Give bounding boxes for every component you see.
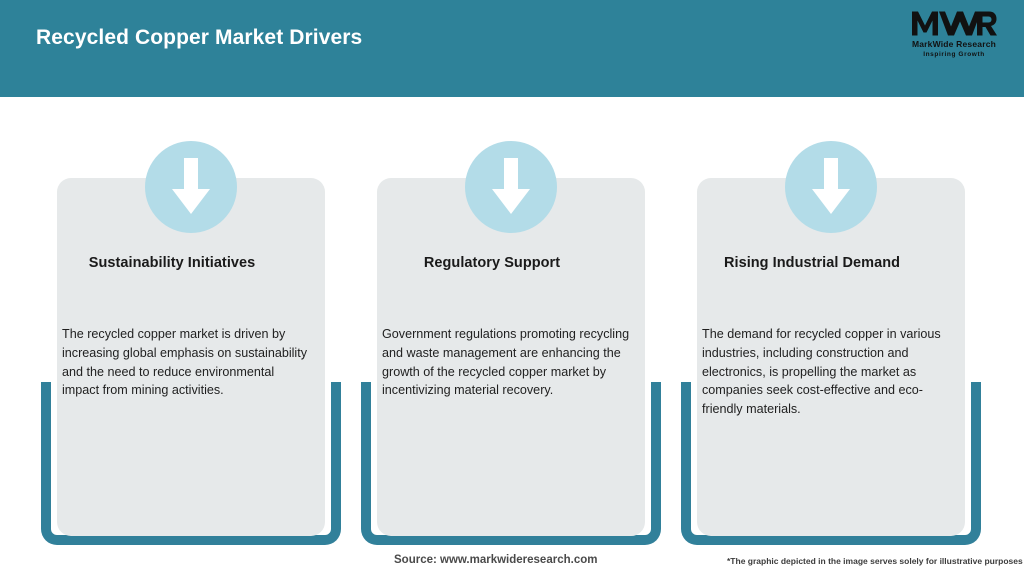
page-title: Recycled Copper Market Drivers xyxy=(36,26,362,50)
logo-company-name: MarkWide Research xyxy=(898,39,1010,50)
card-description: The demand for recycled copper in variou… xyxy=(702,325,950,419)
down-arrow-icon xyxy=(465,141,557,233)
driver-card[interactable]: Sustainability Initiatives The recycled … xyxy=(38,97,344,552)
logo-tagline: Inspiring Growth xyxy=(898,50,1010,59)
driver-cards-container: Sustainability Initiatives The recycled … xyxy=(0,97,1024,552)
mwr-logo-icon xyxy=(911,8,997,38)
driver-card[interactable]: Regulatory Support Government regulation… xyxy=(358,97,664,552)
card-title: Sustainability Initiatives xyxy=(52,255,292,271)
disclaimer-label: *The graphic depicted in the image serve… xyxy=(727,556,1023,566)
page-header: Recycled Copper Market Drivers MarkWide … xyxy=(0,0,1024,97)
down-arrow-icon xyxy=(785,141,877,233)
card-title: Regulatory Support xyxy=(372,255,612,271)
card-title: Rising Industrial Demand xyxy=(692,255,932,271)
driver-card[interactable]: Rising Industrial Demand The demand for … xyxy=(678,97,984,552)
down-arrow-icon xyxy=(145,141,237,233)
card-description: The recycled copper market is driven by … xyxy=(62,325,310,400)
page-footer: Source: www.markwideresearch.com *The gr… xyxy=(0,552,1024,576)
card-description: Government regulations promoting recycli… xyxy=(382,325,630,400)
source-label: Source: www.markwideresearch.com xyxy=(394,554,597,566)
brand-logo: MarkWide Research Inspiring Growth xyxy=(898,8,1010,66)
